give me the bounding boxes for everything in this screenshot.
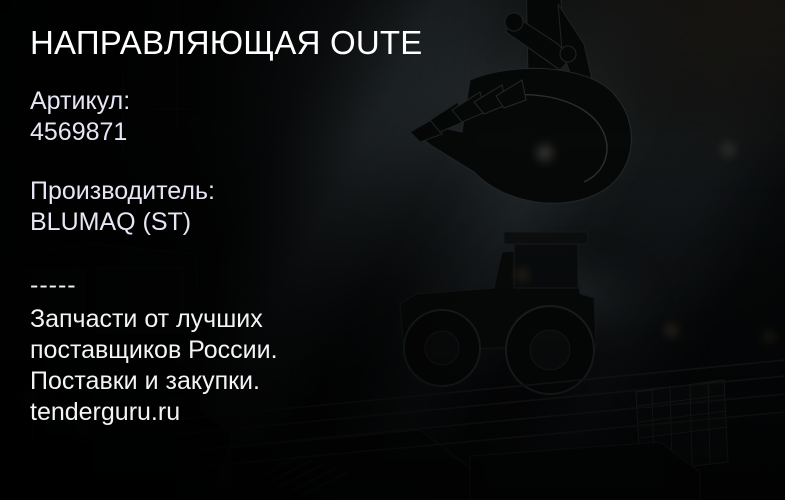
promo-line-2: поставщиков России. <box>30 335 278 366</box>
article-label: Артикул: <box>30 86 130 117</box>
article-field: Артикул: 4569871 <box>30 86 130 148</box>
manufacturer-value: BLUMAQ (ST) <box>30 207 215 238</box>
text-divider: ----- <box>30 270 77 301</box>
banner-content: НАПРАВЛЯЮЩАЯ OUTE Артикул: 4569871 Произ… <box>30 0 470 500</box>
promo-site-url: tenderguru.ru <box>30 397 278 428</box>
article-value: 4569871 <box>30 117 130 148</box>
promo-line-3: Поставки и закупки. <box>30 366 278 397</box>
manufacturer-label: Производитель: <box>30 176 215 207</box>
product-banner: НАПРАВЛЯЮЩАЯ OUTE Артикул: 4569871 Произ… <box>0 0 785 500</box>
page-title: НАПРАВЛЯЮЩАЯ OUTE <box>30 24 423 62</box>
manufacturer-field: Производитель: BLUMAQ (ST) <box>30 176 215 238</box>
promo-block: Запчасти от лучших поставщиков России. П… <box>30 304 278 428</box>
promo-line-1: Запчасти от лучших <box>30 304 278 335</box>
